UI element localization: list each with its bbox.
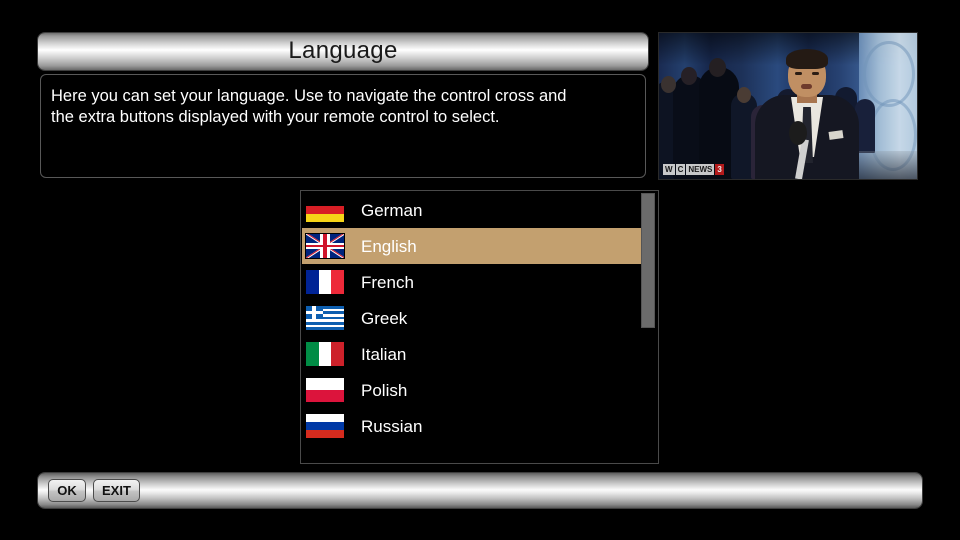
- language-row-gb[interactable]: English: [302, 228, 643, 264]
- language-row-pl[interactable]: Polish: [302, 372, 643, 408]
- ok-button[interactable]: OK: [48, 479, 86, 502]
- channel-bug-part4: 3: [715, 164, 723, 175]
- exit-button-label: EXIT: [102, 484, 131, 497]
- language-row-gr[interactable]: Greek: [302, 300, 643, 336]
- live-tv-preview[interactable]: W C NEWS 3: [658, 32, 918, 180]
- language-row-fr[interactable]: French: [302, 264, 643, 300]
- help-description-text: Here you can set your language. Use to n…: [51, 86, 633, 128]
- channel-bug-part3: NEWS: [686, 164, 714, 175]
- page-title: Language: [288, 39, 397, 65]
- language-list: GermanEnglishFrenchGreekItalianPolishRus…: [302, 192, 643, 444]
- language-row-de[interactable]: German: [302, 192, 643, 228]
- language-row-it[interactable]: Italian: [302, 336, 643, 372]
- preview-scene: W C NEWS 3: [659, 33, 917, 179]
- list-scrollbar-thumb[interactable]: [641, 193, 655, 328]
- it-flag-icon: [305, 341, 345, 367]
- ok-button-label: OK: [57, 484, 77, 497]
- channel-logo-bug: W C NEWS 3: [663, 164, 724, 175]
- language-list-panel: GermanEnglishFrenchGreekItalianPolishRus…: [300, 190, 659, 464]
- exit-button[interactable]: EXIT: [93, 479, 140, 502]
- language-label: French: [361, 274, 414, 291]
- language-label: Russian: [361, 418, 422, 435]
- channel-bug-part2: C: [676, 164, 686, 175]
- language-label: Greek: [361, 310, 407, 327]
- osd-screen: Language Here you can set your language.…: [0, 0, 960, 540]
- preview-microphone: [789, 121, 807, 145]
- page-title-bar: Language: [38, 33, 648, 70]
- language-label: English: [361, 238, 417, 255]
- preview-reporter: [755, 53, 859, 179]
- softkey-bar: OK EXIT: [38, 473, 922, 508]
- language-row-ru[interactable]: Russian: [302, 408, 643, 444]
- language-label: Polish: [361, 382, 407, 399]
- ru-flag-icon: [305, 413, 345, 439]
- language-label: German: [361, 202, 422, 219]
- de-flag-icon: [305, 197, 345, 223]
- list-scrollbar-track[interactable]: [641, 193, 655, 463]
- pl-flag-icon: [305, 377, 345, 403]
- channel-bug-part1: W: [663, 164, 675, 175]
- fr-flag-icon: [305, 269, 345, 295]
- gb-flag-icon: [305, 233, 345, 259]
- gr-flag-icon: [305, 305, 345, 331]
- help-description-box: Here you can set your language. Use to n…: [40, 74, 646, 178]
- language-label: Italian: [361, 346, 406, 363]
